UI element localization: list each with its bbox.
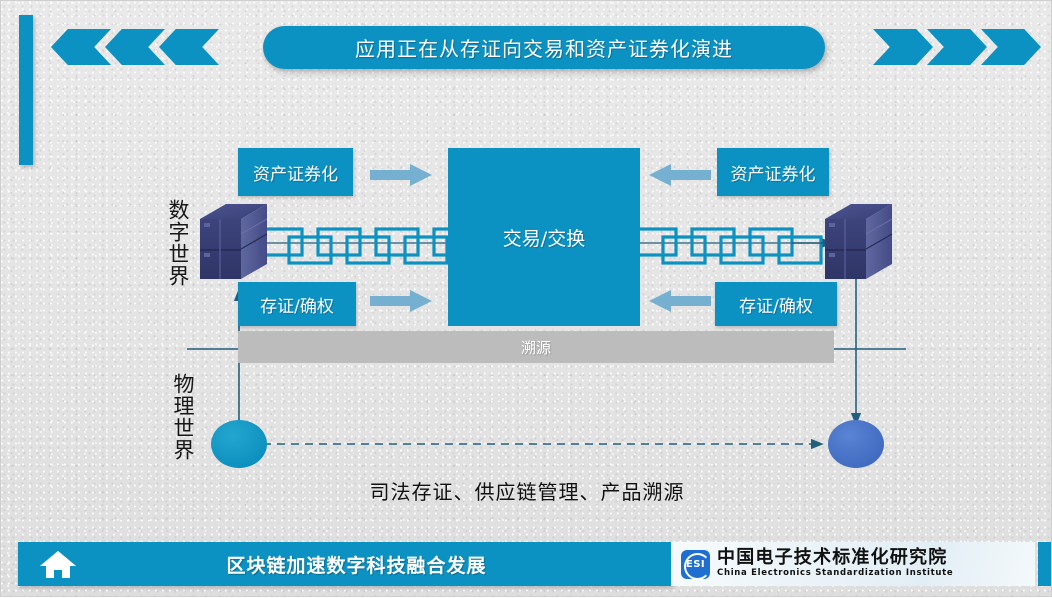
box-transaction-exchange[interactable]: 交易/交换 [448, 148, 640, 326]
box-asset-securitization-left[interactable]: 资产证券化 [238, 148, 353, 196]
header-chevron-right-1 [873, 29, 933, 65]
physical-node-left [211, 420, 267, 468]
header-accent-bar [19, 15, 33, 165]
footer-bar: 区块链加速数字科技融合发展 [18, 542, 673, 586]
header-chevron-left-2 [105, 29, 165, 65]
header-chevron-right-2 [927, 29, 987, 65]
cesi-logo-icon: ESI [681, 550, 710, 579]
layer-label-physical: 物理世界 [164, 373, 194, 461]
slide-title: 应用正在从存证向交易和资产证券化演进 [263, 26, 825, 69]
institute-name-en: China Electronics Standardization Instit… [717, 568, 953, 578]
flow-arrow-right-top [649, 164, 711, 186]
flow-arrow-left-top [370, 164, 432, 186]
footer-right-accent [1038, 542, 1051, 586]
box-deposit-confirmation-left[interactable]: 存证/确权 [238, 282, 356, 326]
flow-arrow-left-bottom [370, 290, 432, 312]
physical-node-right [828, 420, 884, 468]
cesi-logo-text: ESI [686, 559, 705, 570]
header-chevron-left-1 [51, 29, 111, 65]
box-asset-securitization-right[interactable]: 资产证券化 [717, 148, 829, 196]
layer-label-digital: 数字世界 [159, 199, 189, 287]
bar-traceability: 溯源 [238, 331, 834, 363]
flow-arrow-right-bottom [649, 290, 711, 312]
server-cube-left [200, 204, 267, 279]
header-chevron-left-3 [159, 29, 219, 65]
home-icon[interactable] [36, 547, 80, 581]
diagram-caption: 司法存证、供应链管理、产品溯源 [1, 476, 1052, 505]
header-chevron-right-3 [981, 29, 1041, 65]
footer-title: 区块链加速数字科技融合发展 [80, 551, 673, 578]
institute-logo: ESI 中国电子技术标准化研究院 China Electronics Stand… [671, 542, 1035, 586]
box-deposit-confirmation-right[interactable]: 存证/确权 [715, 282, 837, 326]
server-cube-right [825, 204, 892, 279]
slide-canvas: 应用正在从存证向交易和资产证券化演进 [0, 0, 1052, 597]
institute-name-cn: 中国电子技术标准化研究院 [717, 549, 953, 568]
